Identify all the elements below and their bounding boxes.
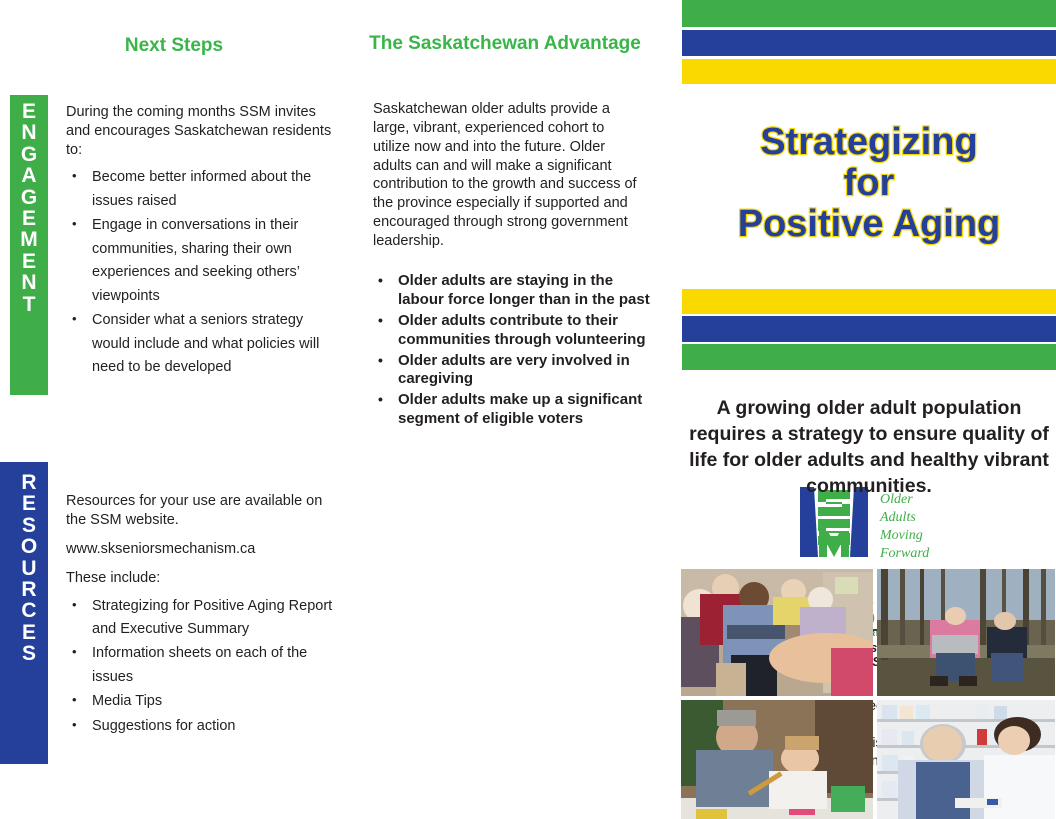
engagement-letter: A [10, 165, 48, 186]
list-item: Older adults make up a significant segme… [373, 391, 653, 429]
cover-subtitle: A growing older adult population require… [688, 396, 1050, 500]
top-stripe-green [682, 0, 1056, 27]
resources-bullet-list: Strategizing for Positive Aging Report a… [66, 595, 338, 739]
engagement-letter: N [10, 272, 48, 293]
resources-website-link[interactable]: www.skseniorsmechanism.ca [66, 540, 338, 559]
engagement-letter: E [10, 101, 48, 122]
list-item: Consider what a seniors strategy would i… [66, 309, 334, 379]
list-item: Media Tips [66, 690, 338, 713]
resources-intro: Resources for your use are available on … [66, 492, 338, 530]
saskatchewan-advantage-body: Saskatchewan older adults provide a larg… [373, 100, 645, 251]
mid-stripe-green [682, 344, 1056, 370]
left-panel: Next Steps E N G A G E M E N T During th… [0, 0, 348, 815]
resources-vertical-band: R E S O U R C E S [0, 462, 48, 764]
engagement-bullet-list: Become better informed about the issues … [66, 166, 334, 379]
cover-title: Strategizing for Positive Aging [682, 122, 1056, 245]
engagement-letter: G [10, 144, 48, 165]
next-steps-heading: Next Steps [0, 35, 348, 57]
top-stripe-blue [682, 30, 1056, 56]
saskatchewan-advantage-bullet-list: Older adults are staying in the labour f… [373, 272, 653, 431]
list-item: Older adults are staying in the labour f… [373, 272, 653, 310]
resources-letter: R [10, 472, 48, 493]
engagement-letter: N [10, 122, 48, 143]
mid-stripe-blue [682, 316, 1056, 342]
cover-title-line-2: for [682, 163, 1056, 204]
resources-include-label: These include: [66, 569, 338, 588]
resources-letter: E [10, 622, 48, 643]
cover-title-line-1: Strategizing [682, 122, 1056, 163]
list-item: Information sheets on each of the issues [66, 642, 338, 689]
resources-letter: S [10, 515, 48, 536]
list-item: Older adults are very involved in caregi… [373, 352, 653, 390]
couple-in-forest-with-laptop-photo [877, 569, 1055, 696]
list-item: Engage in conversations in their communi… [66, 214, 334, 308]
engagement-intro: During the coming months SSM invites and… [66, 103, 334, 160]
engagement-letter: M [10, 229, 48, 250]
engagement-letter: E [10, 208, 48, 229]
top-stripe-yellow [682, 59, 1056, 84]
engagement-letter: G [10, 187, 48, 208]
saskatchewan-advantage-heading: The Saskatchewan Advantage [360, 33, 650, 55]
resources-letter: C [10, 600, 48, 621]
list-item: Become better informed about the issues … [66, 166, 334, 213]
engagement-letter: E [10, 251, 48, 272]
list-item: Suggestions for action [66, 715, 338, 738]
list-item: Strategizing for Positive Aging Report a… [66, 595, 338, 642]
man-and-child-painting-photo [681, 700, 873, 819]
resources-letter: R [10, 579, 48, 600]
pharmacist-and-senior-photo [877, 700, 1055, 819]
resources-letter: U [10, 558, 48, 579]
resources-letter: O [10, 536, 48, 557]
mid-stripe-yellow [682, 289, 1056, 314]
list-item: Older adults contribute to their communi… [373, 312, 653, 350]
cover-photo-grid [681, 569, 1055, 815]
resources-letter: E [10, 493, 48, 514]
resources-letter: S [10, 643, 48, 664]
engagement-letter: T [10, 294, 48, 315]
cover-title-line-3: Positive Aging [682, 204, 1056, 245]
resources-body: Resources for your use are available on … [66, 492, 338, 739]
engagement-vertical-band: E N G A G E M E N T [10, 95, 48, 395]
middle-panel: The Saskatchewan Advantage Saskatchewan … [360, 0, 670, 815]
seniors-exercise-class-photo [681, 569, 873, 696]
engagement-body: During the coming months SSM invites and… [66, 103, 334, 381]
